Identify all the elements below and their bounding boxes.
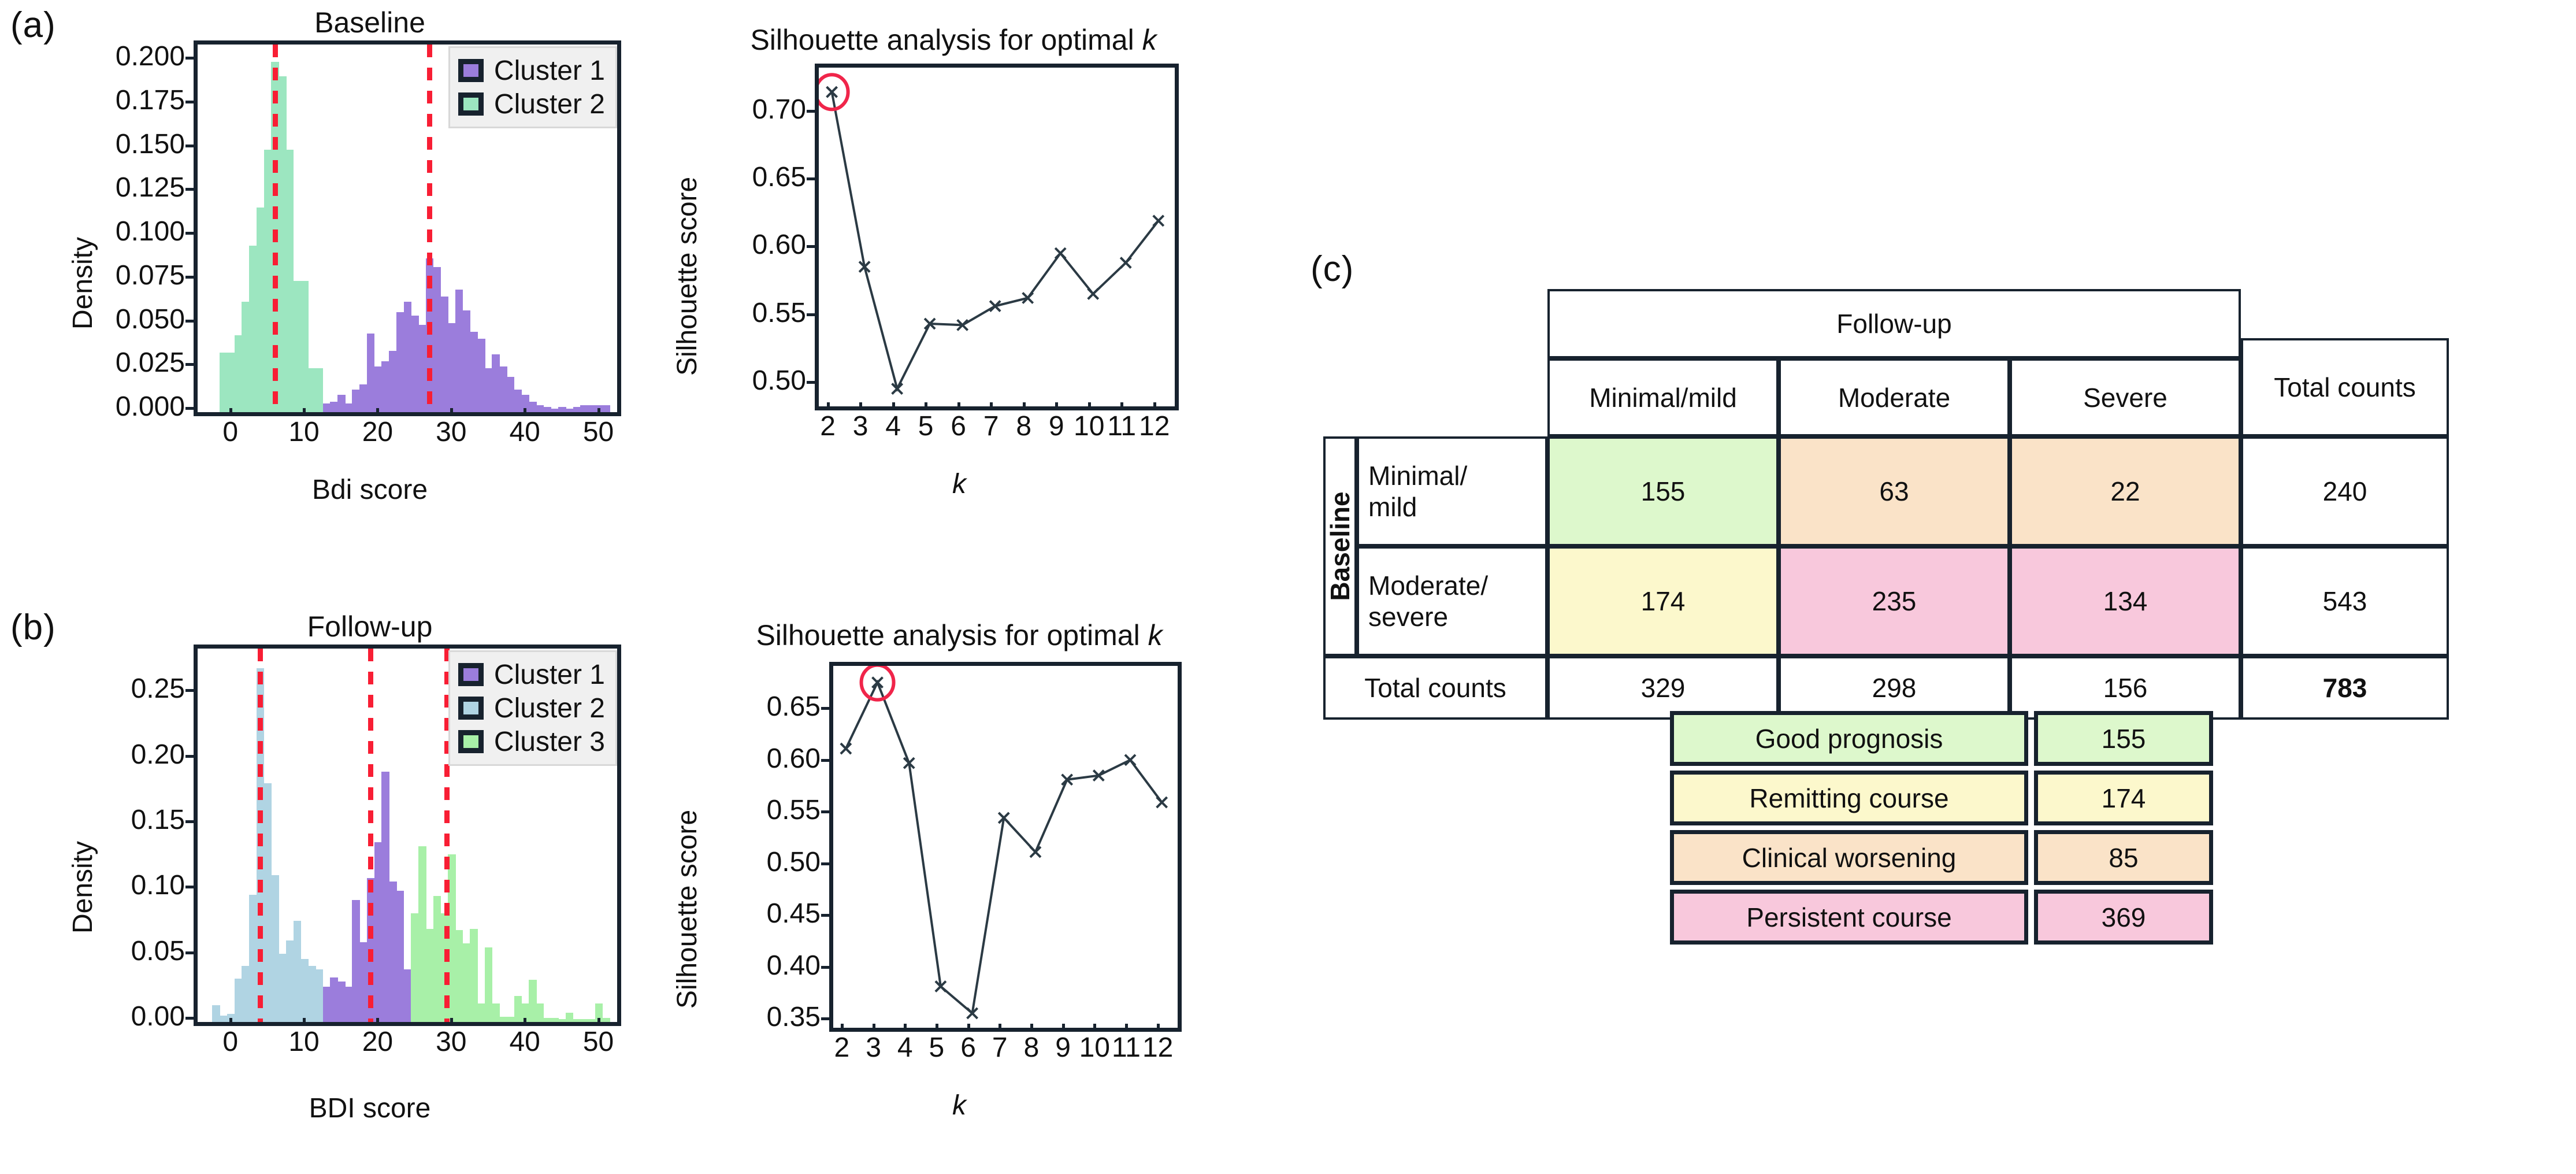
table-column-header: Moderate bbox=[1779, 358, 2010, 436]
prognosis-key-label: Remitting course bbox=[1670, 771, 2028, 825]
prognosis-key-label: Good prognosis bbox=[1670, 711, 2028, 766]
prognosis-key-label: Persistent course bbox=[1670, 890, 2028, 945]
table-row-group-header-baseline: Baseline bbox=[1323, 436, 1357, 656]
prognosis-key-value: 85 bbox=[2034, 830, 2213, 885]
table-row-header: Moderate/severe bbox=[1357, 546, 1547, 656]
table-data-cell: 63 bbox=[1779, 436, 2010, 546]
table-data-cell: 155 bbox=[1547, 436, 1779, 546]
table-data-cell: 174 bbox=[1547, 546, 1779, 656]
table-column-header: Minimal/mild bbox=[1547, 358, 1779, 436]
table-column-total-cell: 329 bbox=[1547, 656, 1779, 720]
table-column-total-cell: 298 bbox=[1779, 656, 2010, 720]
baseline-label-text: Baseline bbox=[1324, 491, 1356, 601]
table-data-cell: 22 bbox=[2010, 436, 2241, 546]
table-data-cell: 134 bbox=[2010, 546, 2241, 656]
table-group-header-followup: Follow-up bbox=[1547, 289, 2241, 358]
table-column-header: Severe bbox=[2010, 358, 2241, 436]
prognosis-key-row: Remitting course174 bbox=[1670, 771, 2213, 825]
table-row-total-cell: 240 bbox=[2241, 436, 2449, 546]
table-row-header: Minimal/mild bbox=[1357, 436, 1547, 546]
table-total-counts-header: Total counts bbox=[2241, 338, 2449, 436]
prognosis-key-row: Good prognosis155 bbox=[1670, 711, 2213, 766]
table-row-total-cell: 543 bbox=[2241, 546, 2449, 656]
table-totals-row-label: Total counts bbox=[1323, 656, 1547, 720]
table-data-cell: 235 bbox=[1779, 546, 2010, 656]
prognosis-key-row: Persistent course369 bbox=[1670, 890, 2213, 945]
prognosis-key-label: Clinical worsening bbox=[1670, 830, 2028, 885]
prognosis-key-value: 174 bbox=[2034, 771, 2213, 825]
prognosis-key-value: 155 bbox=[2034, 711, 2213, 766]
contingency-table: Follow-upMinimal/mildModerateSevereTotal… bbox=[0, 0, 2576, 1174]
table-grand-total-cell: 783 bbox=[2241, 656, 2449, 720]
table-column-total-cell: 156 bbox=[2010, 656, 2241, 720]
prognosis-key-row: Clinical worsening85 bbox=[1670, 830, 2213, 885]
prognosis-key-value: 369 bbox=[2034, 890, 2213, 945]
